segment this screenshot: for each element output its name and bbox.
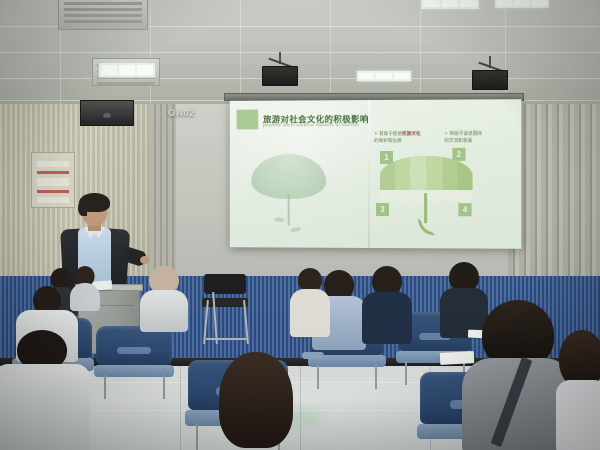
wall-speaker-icon — [80, 100, 134, 126]
ceiling-light-2 — [494, 0, 550, 9]
audience-member-left-edge-front — [0, 330, 90, 450]
slide-badge — [237, 110, 259, 130]
audience-member-bald — [140, 266, 188, 330]
ceiling-speaker-left — [262, 52, 298, 86]
window-blind-left — [150, 104, 176, 289]
slide-bullet-2: ✦ 有助于促进国际 的交流和发展 — [444, 130, 507, 145]
projection-screen: 旅游对社会文化的积极影响 positive socio-cultural imp… — [230, 99, 522, 249]
audience-member-long-hair-front — [208, 352, 304, 450]
slide-bullet-1: ✦ 有助于促进民族文化 的保护和弘扬 — [374, 130, 436, 144]
lecture-room-photo: GA02 旅游对社会文化的积极影响 positive socio-cultura… — [0, 0, 600, 450]
audience-member-right-edge — [556, 330, 600, 450]
window-curtain-right — [508, 104, 600, 284]
audience-member-light-top — [290, 268, 330, 334]
hvac-vent — [58, 0, 148, 30]
ceiling-light-1 — [420, 0, 480, 10]
fish-graphic-2 — [290, 227, 300, 232]
folding-chair[interactable] — [202, 274, 250, 344]
lotus-leaf-graphic — [251, 154, 326, 226]
slide-title-en: positive socio-cultural impacts of touri… — [263, 122, 359, 127]
ceiling-speaker-right — [472, 56, 508, 90]
ceiling-light-3 — [98, 62, 156, 78]
chair-row2-b[interactable] — [96, 326, 172, 396]
audience-member-navy-top — [362, 266, 412, 340]
umbrella-graphic — [380, 156, 473, 231]
ceiling-light-4 — [356, 70, 412, 82]
room-label: GA02 — [168, 108, 196, 118]
